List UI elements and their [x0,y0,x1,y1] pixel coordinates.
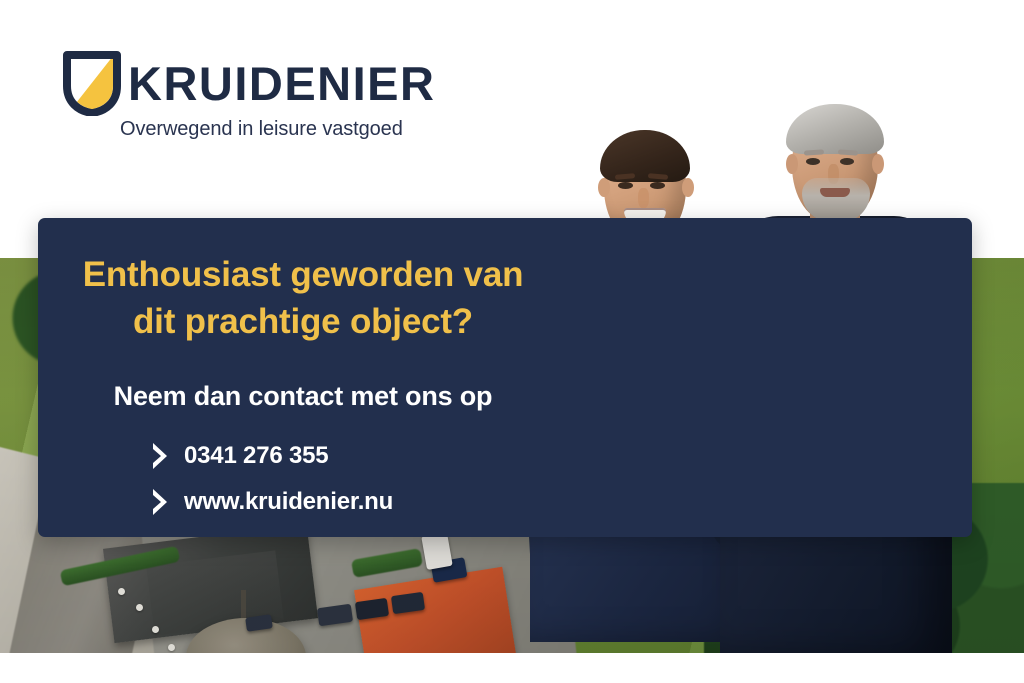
white-footer-area [0,653,1024,683]
agent-right-ear [786,154,798,174]
contact-row-phone[interactable]: 0341 276 355 [150,433,570,479]
brand-logo[interactable]: KRUIDENIER Overwegend in leisure vastgoe… [62,50,442,150]
headline-line-1: Enthousiast geworden van [83,255,524,294]
agent-right-ear [872,154,884,174]
shield-icon [62,50,122,116]
agent-left-eye [650,182,665,189]
brand-wordmark: KRUIDENIER [128,60,435,107]
logo-row: KRUIDENIER [62,50,435,116]
chevron-right-icon [150,487,184,517]
agent-left-ear [598,178,610,197]
agent-right-eye [840,158,854,165]
agent-left-eye [618,182,633,189]
headline-line-2: dit prachtige object? [38,299,568,346]
agent-left-ear [682,178,694,197]
contact-list: 0341 276 355 www.kruidenier.nu [150,433,570,525]
promo-banner: Enthousiast geworden van dit prachtige o… [0,0,1024,683]
panel-subheading: Neem dan contact met ons op [38,381,568,412]
contact-phone-label: 0341 276 355 [184,442,328,470]
contact-panel: Enthousiast geworden van dit prachtige o… [38,218,972,537]
panel-headline: Enthousiast geworden van dit prachtige o… [38,252,568,346]
agent-right-mouth [820,188,850,197]
agent-right-hair [786,104,884,154]
brand-tagline: Overwegend in leisure vastgoed [120,118,403,141]
agent-left-nose [638,188,649,208]
contact-panel-content: Enthousiast geworden van dit prachtige o… [38,218,578,537]
contact-website-label: www.kruidenier.nu [184,488,393,516]
contact-row-website[interactable]: www.kruidenier.nu [150,479,570,525]
agent-left-hair [600,130,690,182]
chevron-right-icon [150,441,184,471]
agent-right-eye [806,158,820,165]
